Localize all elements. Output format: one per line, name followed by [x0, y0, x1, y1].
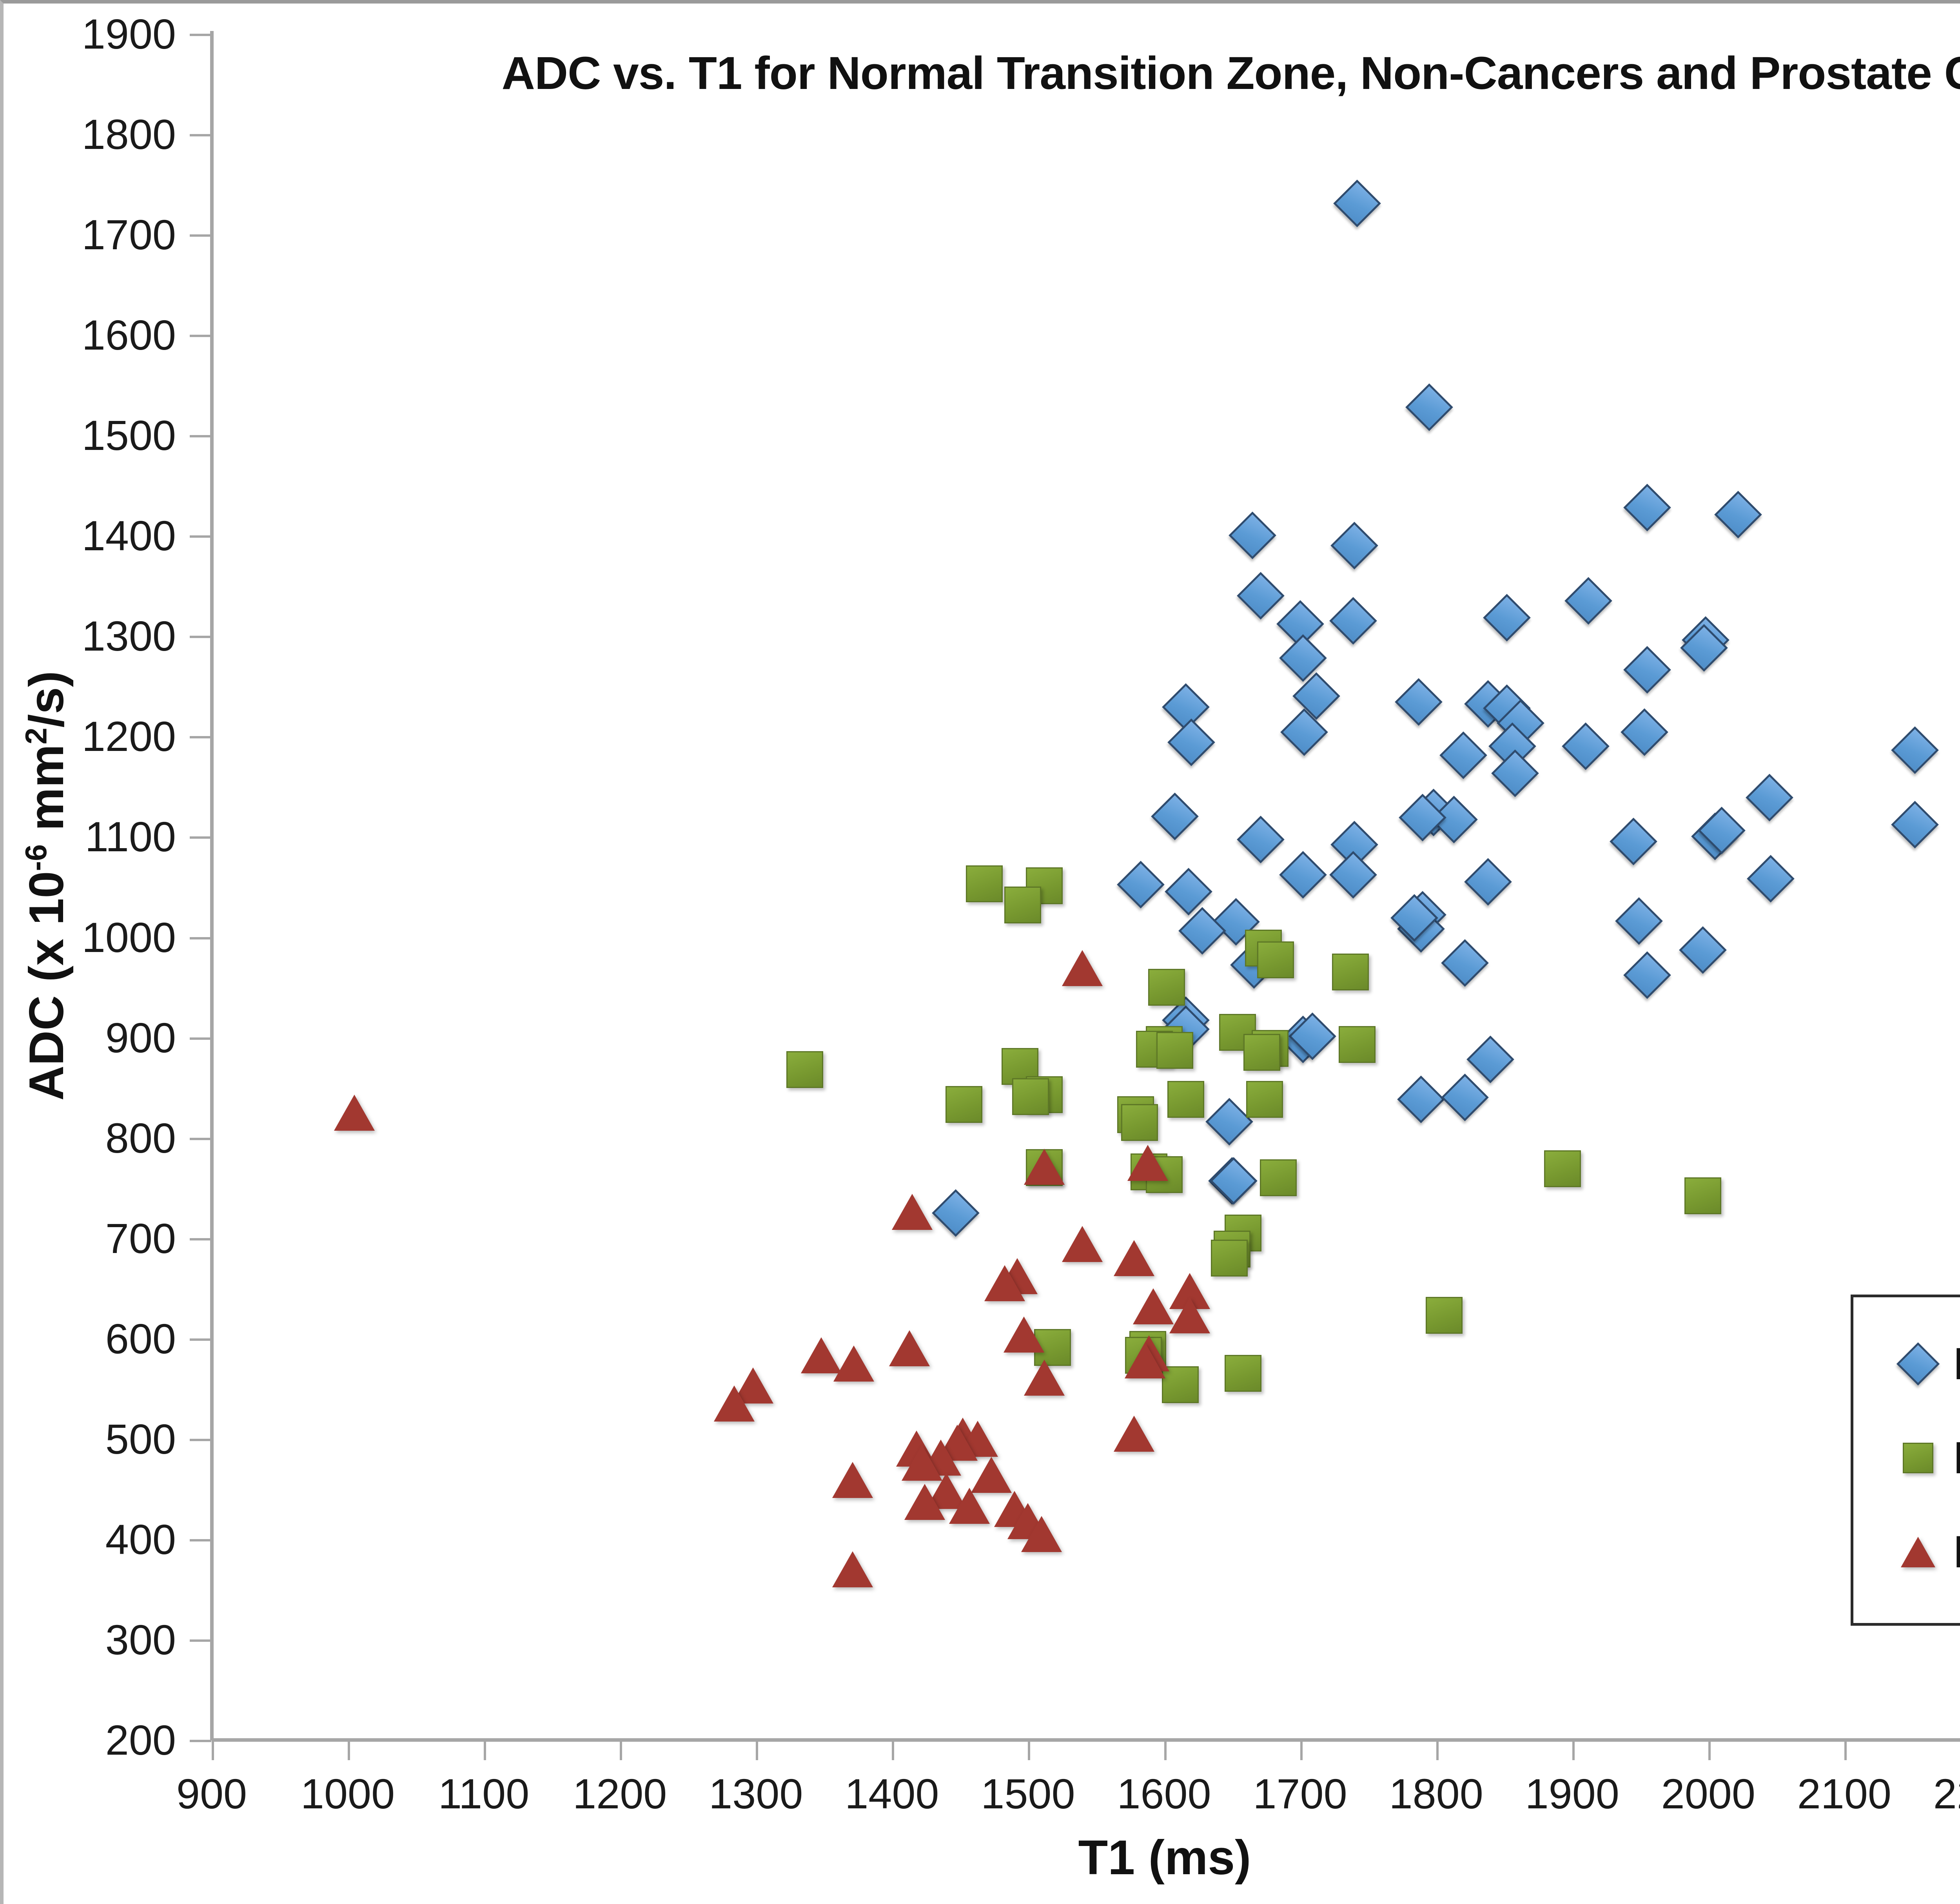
y-tick — [190, 1238, 211, 1240]
diamond-marker-icon — [1896, 1342, 1940, 1385]
data-point-prostate-cancer — [889, 1330, 930, 1366]
data-point-ntz — [1441, 1073, 1489, 1121]
data-point-ntz — [1623, 951, 1671, 999]
data-point-prostate-cancer — [904, 1484, 945, 1520]
data-point-ntz — [1329, 851, 1377, 899]
data-point-ntz — [1329, 597, 1377, 645]
x-tick-label: 1300 — [677, 1769, 834, 1818]
data-point-non-cancer — [1426, 1297, 1463, 1334]
data-point-non-cancer — [1257, 941, 1294, 978]
data-point-ntz — [1280, 708, 1328, 756]
data-point-prostate-cancer — [971, 1457, 1012, 1493]
y-tick — [190, 836, 211, 839]
chart-legend: NTZ (n = 67) Non-Cancers (n = 38) Prosta… — [1851, 1295, 1960, 1626]
data-point-ntz — [1679, 926, 1727, 974]
data-point-non-cancer — [1260, 1159, 1297, 1196]
x-tick-label: 1000 — [269, 1769, 426, 1818]
data-point-prostate-cancer — [832, 1551, 873, 1587]
x-tick-label: 900 — [133, 1769, 290, 1818]
data-point-non-cancer — [1167, 1081, 1204, 1118]
x-tick-label: 1100 — [405, 1769, 562, 1818]
legend-item-label: NTZ (n = 67) — [1953, 1338, 1960, 1390]
data-point-prostate-cancer — [1127, 1145, 1168, 1181]
x-tick-label: 1500 — [949, 1769, 1106, 1818]
x-axis-label: T1 (ms) — [212, 1830, 1960, 1886]
y-tick — [190, 535, 211, 538]
x-tick-label: 1600 — [1086, 1769, 1243, 1818]
data-point-ntz — [1151, 792, 1199, 840]
x-tick — [348, 1740, 350, 1760]
data-point-prostate-cancer — [833, 1345, 874, 1382]
y-tick — [190, 1037, 211, 1040]
scatter-chart-figure: ADC vs. T1 for Normal Transition Zone, N… — [0, 0, 1960, 1904]
data-point-ntz — [1178, 907, 1226, 955]
plot-area — [212, 34, 1960, 1740]
data-point-non-cancer — [1246, 1081, 1283, 1118]
legend-item-label: Prostate Cancers (n = 37) — [1953, 1526, 1960, 1578]
data-point-ntz — [1746, 774, 1793, 821]
x-tick — [1436, 1740, 1439, 1760]
y-tick — [190, 1138, 211, 1140]
y-tick — [190, 1439, 211, 1441]
x-tick — [1028, 1740, 1030, 1760]
y-tick — [190, 1539, 211, 1541]
data-point-prostate-cancer — [1114, 1416, 1154, 1452]
data-point-prostate-cancer — [1062, 1226, 1103, 1262]
y-axis-units-tail: /s) — [20, 671, 74, 728]
x-tick — [1844, 1740, 1847, 1760]
triangle-marker-icon — [1896, 1530, 1940, 1574]
y-axis-label-text: ADC (x 10 — [20, 871, 74, 1101]
data-point-prostate-cancer — [1114, 1240, 1154, 1276]
y-tick — [190, 937, 211, 939]
y-axis-units: mm — [20, 744, 74, 844]
data-point-non-cancer — [1332, 954, 1369, 990]
x-tick — [1300, 1740, 1303, 1760]
data-point-non-cancer — [1004, 887, 1041, 923]
data-point-ntz — [1117, 861, 1165, 909]
data-point-ntz — [1483, 594, 1531, 642]
y-tick — [190, 736, 211, 738]
y-tick-label: 500 — [4, 1414, 176, 1463]
data-point-non-cancer — [1225, 1355, 1261, 1392]
y-tick-label: 1900 — [4, 9, 176, 58]
y-tick — [190, 335, 211, 337]
data-point-ntz — [1621, 708, 1668, 756]
data-point-ntz — [1439, 731, 1487, 779]
x-tick-label: 2200 — [1902, 1769, 1960, 1818]
data-point-prostate-cancer — [1004, 1316, 1044, 1353]
data-point-ntz — [1467, 1035, 1515, 1083]
data-point-non-cancer — [1148, 969, 1185, 1006]
data-point-prostate-cancer — [892, 1194, 933, 1230]
data-point-ntz — [1891, 726, 1939, 774]
data-point-ntz — [1623, 646, 1671, 694]
x-tick-label: 2100 — [1766, 1769, 1923, 1818]
data-point-ntz — [1562, 722, 1610, 770]
data-point-ntz — [1229, 511, 1276, 559]
y-axis-exponent: -6 — [20, 844, 53, 871]
data-point-prostate-cancer — [1021, 1516, 1062, 1552]
data-point-prostate-cancer — [1024, 1149, 1065, 1185]
data-point-non-cancer — [1012, 1078, 1049, 1115]
data-point-non-cancer — [946, 1086, 982, 1123]
y-axis-units-exponent: 2 — [20, 727, 53, 744]
legend-item-non-cancers[interactable]: Non-Cancers (n = 38) — [1896, 1431, 1960, 1485]
y-tick-label: 200 — [4, 1715, 176, 1764]
legend-item-prostate-cancers[interactable]: Prostate Cancers (n = 37) — [1896, 1525, 1960, 1579]
data-point-ntz — [1464, 858, 1512, 906]
data-point-non-cancer — [1211, 1240, 1248, 1277]
y-tick — [190, 636, 211, 638]
y-tick-label: 300 — [4, 1615, 176, 1664]
data-point-ntz — [1237, 816, 1285, 863]
data-point-ntz — [1405, 383, 1453, 431]
data-point-ntz — [1334, 180, 1381, 227]
data-point-non-cancer — [1544, 1150, 1581, 1187]
x-tick-label: 1400 — [813, 1769, 970, 1818]
data-point-ntz — [1441, 939, 1489, 987]
x-tick-label: 2000 — [1630, 1769, 1787, 1818]
x-tick — [484, 1740, 486, 1760]
data-point-ntz — [1565, 577, 1613, 625]
x-tick — [1708, 1740, 1711, 1760]
data-point-non-cancer — [1339, 1026, 1376, 1063]
data-point-ntz — [1210, 1157, 1258, 1205]
data-point-ntz — [1279, 851, 1327, 899]
data-point-ntz — [1491, 749, 1539, 797]
y-axis-label: ADC (x 10-6 mm2/s) — [19, 415, 74, 1356]
x-tick — [620, 1740, 622, 1760]
data-point-non-cancer — [1156, 1032, 1193, 1069]
x-tick — [1572, 1740, 1575, 1760]
legend-item-label: Non-Cancers (n = 38) — [1953, 1432, 1960, 1484]
data-point-ntz — [932, 1189, 980, 1237]
data-point-ntz — [1714, 491, 1762, 539]
data-point-prostate-cancer — [1062, 950, 1103, 986]
x-tick-label: 1200 — [541, 1769, 698, 1818]
data-point-ntz — [1167, 718, 1215, 766]
data-point-ntz — [1615, 897, 1663, 945]
y-tick-label: 1800 — [4, 110, 176, 159]
data-point-ntz — [1331, 522, 1379, 569]
y-tick — [190, 34, 211, 36]
data-point-non-cancer — [786, 1051, 823, 1088]
data-point-ntz — [1395, 678, 1443, 726]
x-tick — [892, 1740, 894, 1760]
data-point-ntz — [1747, 855, 1795, 903]
data-point-prostate-cancer — [949, 1488, 990, 1524]
x-tick-label: 1800 — [1358, 1769, 1515, 1818]
data-point-non-cancer — [1684, 1177, 1721, 1214]
data-point-prostate-cancer — [832, 1462, 873, 1498]
data-point-ntz — [1237, 572, 1285, 620]
y-tick-label: 1700 — [4, 210, 176, 259]
data-point-prostate-cancer — [1133, 1288, 1174, 1324]
data-point-prostate-cancer — [1169, 1297, 1210, 1333]
y-tick — [190, 435, 211, 437]
y-tick — [190, 1740, 211, 1742]
y-tick — [190, 1639, 211, 1642]
y-tick-label: 1600 — [4, 310, 176, 359]
data-point-prostate-cancer — [984, 1265, 1025, 1301]
data-point-non-cancer — [966, 865, 1003, 902]
data-point-prostate-cancer — [714, 1385, 755, 1422]
x-tick-label: 1700 — [1222, 1769, 1379, 1818]
data-point-ntz — [1623, 484, 1671, 531]
data-point-non-cancer — [1162, 1366, 1199, 1403]
x-tick — [1164, 1740, 1167, 1760]
data-point-ntz — [1610, 818, 1657, 865]
y-tick — [190, 1338, 211, 1341]
x-tick — [756, 1740, 758, 1760]
legend-item-ntz[interactable]: NTZ (n = 67) — [1896, 1336, 1960, 1391]
y-tick — [190, 234, 211, 237]
data-point-ntz — [1891, 801, 1939, 849]
data-point-non-cancer — [1121, 1104, 1158, 1141]
data-point-ntz — [1165, 868, 1212, 916]
data-point-prostate-cancer — [1125, 1342, 1165, 1378]
y-tick — [190, 134, 211, 136]
data-point-ntz — [1279, 634, 1327, 682]
data-point-non-cancer — [1243, 1034, 1280, 1071]
data-point-ntz — [1397, 1076, 1445, 1124]
x-tick — [212, 1740, 214, 1760]
x-tick-label: 1900 — [1494, 1769, 1651, 1818]
data-point-prostate-cancer — [1024, 1360, 1065, 1396]
data-point-prostate-cancer — [334, 1095, 375, 1131]
square-marker-icon — [1896, 1436, 1940, 1480]
y-tick-label: 400 — [4, 1515, 176, 1564]
